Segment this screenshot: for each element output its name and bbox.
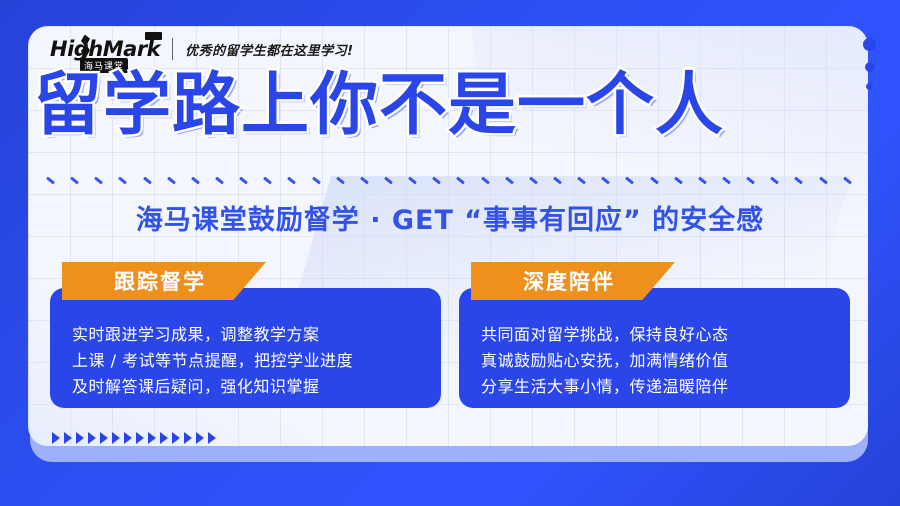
slash-tick-icon xyxy=(360,176,369,184)
arrow-right-icon xyxy=(76,432,84,444)
arrow-right-icon xyxy=(208,432,216,444)
slash-tick-icon xyxy=(794,176,803,184)
card-body: 共同面对留学挑战，保持良好心态 真诚鼓励贴心安抚，加满情绪价值 分享生活大事小情… xyxy=(459,288,850,408)
header-divider xyxy=(172,38,173,60)
arrow-right-icon xyxy=(124,432,132,444)
arrow-right-icon xyxy=(196,432,204,444)
poster-canvas: HighMark 海马课堂 优秀的留学生都在这里学习! 留学路上你不是一个人 留… xyxy=(0,0,900,506)
slash-tick-icon xyxy=(698,176,707,184)
slash-tick-icon xyxy=(191,176,200,184)
slash-tick-icon xyxy=(239,176,248,184)
arrow-right-icon xyxy=(88,432,96,444)
slash-tick-icon xyxy=(215,176,224,184)
decor-arrows xyxy=(52,432,216,444)
slash-tick-icon xyxy=(118,176,127,184)
slash-tick-icon xyxy=(505,176,514,184)
slash-tick-icon xyxy=(384,176,393,184)
slash-tick-icon xyxy=(746,176,755,184)
slash-tick-icon xyxy=(287,176,296,184)
slash-tick-icon xyxy=(167,176,176,184)
dot-medium-icon xyxy=(865,62,875,72)
card-line: 上课 / 考试等节点提醒，把控学业进度 xyxy=(70,348,421,374)
slash-tick-icon xyxy=(625,176,634,184)
page-subtitle: 海马课堂鼓励督学 · GET “事事有回应” 的安全感 xyxy=(0,198,900,237)
card-lines: 实时跟进学习成果，调整教学方案 上课 / 考试等节点提醒，把控学业进度 及时解答… xyxy=(50,322,441,400)
arrow-right-icon xyxy=(160,432,168,444)
slash-tick-icon xyxy=(650,176,659,184)
slash-tick-icon xyxy=(263,176,272,184)
card-body: 实时跟进学习成果，调整教学方案 上课 / 考试等节点提醒，把控学业进度 及时解答… xyxy=(50,288,441,408)
arrow-right-icon xyxy=(172,432,180,444)
card-line: 及时解答课后疑问，强化知识掌握 xyxy=(70,374,421,400)
slash-tick-icon xyxy=(408,176,417,184)
slash-tick-icon xyxy=(432,176,441,184)
slash-tick-icon xyxy=(481,176,490,184)
slash-tick-icon xyxy=(70,176,79,184)
logo-badge-icon xyxy=(145,32,162,40)
slash-tick-icon xyxy=(722,176,731,184)
card-lines: 共同面对留学挑战，保持良好心态 真诚鼓励贴心安抚，加满情绪价值 分享生活大事小情… xyxy=(459,322,850,400)
arrow-right-icon xyxy=(112,432,120,444)
arrow-right-icon xyxy=(52,432,60,444)
card-line: 真诚鼓励贴心安抚，加满情绪价值 xyxy=(479,348,830,374)
slash-tick-icon xyxy=(843,176,852,184)
highmark-logo: HighMark 海马课堂 xyxy=(50,39,160,60)
page-title: 留学路上你不是一个人 xyxy=(34,72,864,140)
slash-tick-icon xyxy=(674,176,683,184)
card-title-banner: 跟踪督学 xyxy=(62,262,266,300)
slash-tick-icon xyxy=(94,176,103,184)
slash-tick-icon xyxy=(770,176,779,184)
slash-tick-icon xyxy=(312,176,321,184)
logo-wordmark: HighMark xyxy=(50,39,160,60)
slash-tick-icon xyxy=(46,176,55,184)
dot-small-icon xyxy=(866,83,873,90)
slash-tick-icon xyxy=(529,176,538,184)
slash-tick-icon xyxy=(577,176,586,184)
slash-tick-icon xyxy=(601,176,610,184)
card-line: 分享生活大事小情，传递温暖陪伴 xyxy=(479,374,830,400)
arrow-right-icon xyxy=(148,432,156,444)
card-line: 实时跟进学习成果，调整教学方案 xyxy=(70,322,421,348)
arrow-right-icon xyxy=(184,432,192,444)
slash-tick-icon xyxy=(336,176,345,184)
slash-tick-icon xyxy=(553,176,562,184)
brand-header: HighMark 海马课堂 优秀的留学生都在这里学习! xyxy=(50,38,354,60)
dot-large-icon xyxy=(863,38,876,51)
slash-tick-icon xyxy=(819,176,828,184)
brand-tagline: 优秀的留学生都在这里学习! xyxy=(185,40,353,59)
arrow-right-icon xyxy=(64,432,72,444)
card-title-banner: 深度陪伴 xyxy=(471,262,675,300)
slash-tick-icon xyxy=(456,176,465,184)
arrow-right-icon xyxy=(136,432,144,444)
slash-divider xyxy=(46,172,852,188)
card-line: 共同面对留学挑战，保持良好心态 xyxy=(479,322,830,348)
slash-tick-icon xyxy=(143,176,152,184)
arrow-right-icon xyxy=(100,432,108,444)
